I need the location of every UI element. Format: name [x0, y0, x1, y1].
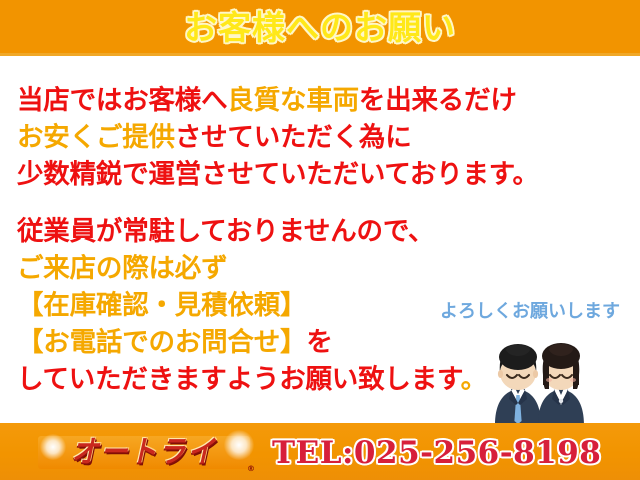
copy-segment-highlight: 【在庫確認・見積依頼】 — [17, 290, 306, 321]
copy-line: 少数精鋭で運営させていただいております。 — [17, 156, 617, 193]
copy-segment-highlight: 良質な車両 — [227, 85, 359, 116]
female-staff-icon — [538, 343, 584, 425]
copy-line: 当店ではお客様へ良質な車両を出来るだけ — [17, 82, 617, 119]
copy-line: お安くご提供させていただく為に — [17, 119, 617, 156]
header-band-edge — [0, 53, 640, 56]
registered-mark-icon: ® — [247, 464, 255, 473]
copy-segment: 当店ではお客様へ — [17, 85, 227, 116]
telephone-number[interactable]: TEL:025-256-8198 — [272, 434, 601, 472]
copy-segment: していただきますようお願い致します — [17, 364, 461, 395]
copy-segment: させていただく為に — [175, 122, 412, 153]
bowing-staff-illustration — [485, 333, 590, 425]
copy-segment: を — [306, 327, 332, 358]
copy-line: 従業員が常駐しておりませんので、 — [17, 213, 617, 250]
copy-segment-highlight: 【お電話でのお問合せ】 — [17, 327, 306, 358]
copy-segment: 少数精鋭で運営させていただいております。 — [17, 159, 539, 190]
logo-text: オートライ — [46, 432, 242, 475]
male-staff-icon — [495, 344, 541, 425]
copy-segment-highlight: 。 — [461, 364, 487, 395]
company-logo[interactable]: オートライ ® — [38, 432, 253, 474]
copy-segment: 従業員が常駐しておりませんので、 — [17, 216, 434, 247]
copy-line: ご来店の際は必ず — [17, 250, 617, 287]
copy-segment-highlight: ご来店の際は必ず — [17, 253, 227, 284]
copy-segment-highlight: お安くご提供 — [17, 122, 175, 153]
flyer-page: お客様へのお願い 当店ではお客様へ良質な車両を出来るだけ お安くご提供させていた… — [0, 0, 640, 480]
thanks-note: よろしくお願いします — [440, 300, 620, 324]
paragraph-spacer — [17, 193, 617, 213]
copy-segment: を出来るだけ — [359, 85, 517, 116]
page-title: お客様へのお願い — [0, 5, 640, 51]
